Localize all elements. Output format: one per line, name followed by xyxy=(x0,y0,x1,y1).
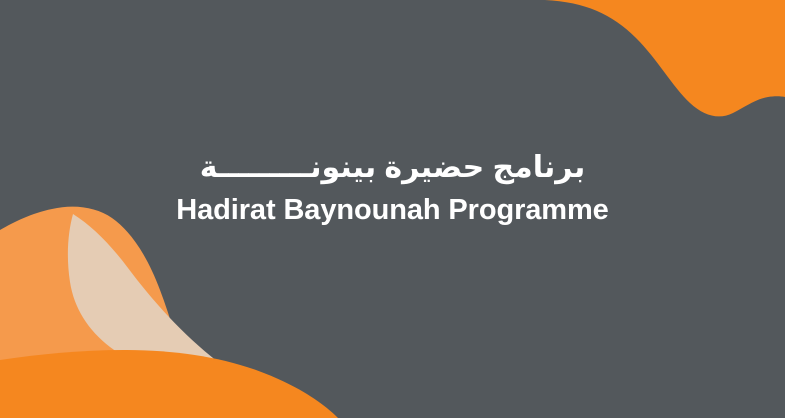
bottom-left-orange-dune-shape xyxy=(0,350,338,418)
banner-root: برنامج حضيرة بينونـــــــــة Hadirat Bay… xyxy=(0,0,785,418)
decorative-artwork xyxy=(0,0,785,418)
top-right-orange-wave-shape xyxy=(545,0,785,116)
